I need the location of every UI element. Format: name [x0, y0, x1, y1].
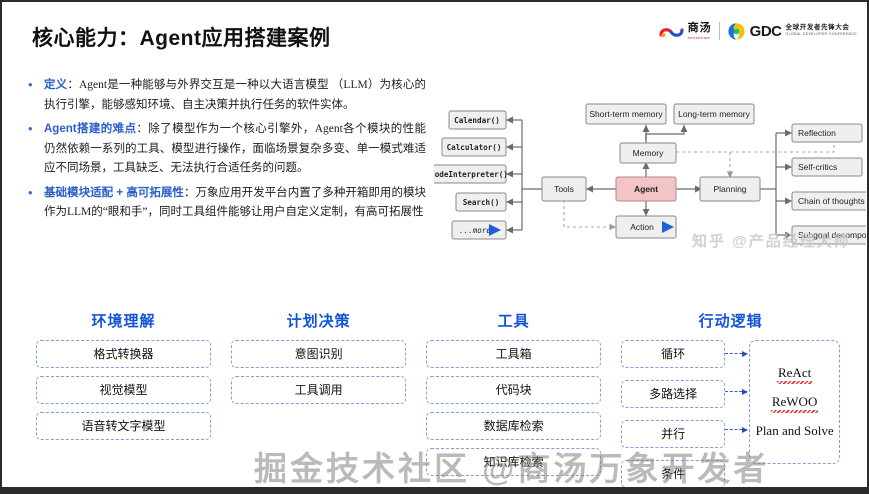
capability-columns: 环境理解 格式转换器 视觉模型 语音转文字模型 计划决策 意图识别 工具调用 工… [26, 310, 850, 488]
capability-chip[interactable]: 循环 [621, 340, 725, 368]
gdc-mark-icon [727, 22, 746, 41]
box-tool-calculator: Calculator() [447, 143, 502, 152]
box-reflection: Reflection [798, 128, 836, 138]
arrow-icon [725, 353, 747, 355]
box-planning: Planning [713, 184, 746, 194]
arrow-icon [725, 429, 747, 431]
box-action: Action [630, 222, 654, 232]
column-planning-decision: 计划决策 意图识别 工具调用 [221, 310, 416, 488]
capability-chip[interactable]: 工具箱 [426, 340, 601, 368]
bullet-list: • 定义：Agent是一种能够与外界交互是一种以大语言模型 （LLM）为核心的执… [26, 76, 426, 228]
box-tool-codeinterpreter: CodeInterpreter() [434, 170, 508, 179]
gdc-cn-label: 全球开发者先锋大会 [786, 25, 857, 32]
action-logic-arrows [725, 340, 749, 494]
capability-chip[interactable]: 多路选择 [621, 380, 725, 408]
sensetime-cn-label: 商汤 [688, 23, 712, 34]
column-heading: 环境理解 [36, 310, 211, 331]
sensetime-logo: 商汤 sensetime [659, 23, 712, 40]
box-agent: Agent [634, 184, 658, 194]
arrow-icon [725, 391, 747, 393]
capability-chip[interactable]: 代码块 [426, 376, 601, 404]
box-tools: Tools [554, 184, 574, 194]
column-heading: 行动逻辑 [621, 310, 840, 331]
gdc-logo: GDC 全球开发者先锋大会 GLOBAL DEVELOPER CONFERENC… [727, 22, 857, 41]
bullet-lead: 定义 [44, 79, 67, 91]
agent-pattern-box: ReAct ReWOO Plan and Solve [749, 340, 840, 464]
capability-chip[interactable]: 视觉模型 [36, 376, 211, 404]
column-environment-understanding: 环境理解 格式转换器 视觉模型 语音转文字模型 [26, 310, 221, 488]
column-tools: 工具 工具箱 代码块 数据库检索 知识库检索 [416, 310, 611, 488]
agent-diagram-svg: Short-term memory Long-term memory Memor… [434, 90, 866, 270]
gdc-en-label: GLOBAL DEVELOPER CONFERENCE [786, 33, 857, 37]
footer-divider [2, 487, 867, 492]
capability-chip[interactable]: 条件 [621, 460, 725, 488]
box-tool-calendar: Calendar() [454, 116, 500, 125]
bullet-dot-icon: • [26, 76, 44, 94]
column-action-logic: 行动逻辑 循环 多路选择 并行 条件 ReAct ReWOO Plan and … [611, 310, 850, 488]
bullet-dot-icon: • [26, 184, 44, 202]
capability-chip[interactable]: 并行 [621, 420, 725, 448]
capability-chip[interactable]: 数据库检索 [426, 412, 601, 440]
pattern-rewoo: ReWOO [772, 394, 818, 410]
box-long-term-memory: Long-term memory [678, 109, 751, 119]
bullet-lead: Agent搭建的难点 [44, 123, 136, 135]
capability-chip[interactable]: 语音转文字模型 [36, 412, 211, 440]
pattern-react: ReAct [778, 365, 811, 381]
box-tool-more: ...more [459, 226, 491, 235]
box-subgoal-decomposition: Subgoal decomposition [798, 230, 866, 240]
bullet-lead: 基础模块适配 + 高可拓展性 [44, 187, 184, 199]
page-title: 核心能力：Agent应用搭建案例 [32, 22, 331, 52]
capability-chip[interactable]: 知识库检索 [426, 448, 601, 476]
sensetime-en-label: sensetime [688, 36, 712, 40]
box-self-critics: Self-critics [798, 162, 837, 172]
slide-root: 核心能力：Agent应用搭建案例 商汤 sensetime GDC [0, 0, 869, 494]
capability-chip[interactable]: 格式转换器 [36, 340, 211, 368]
bullet-item: • Agent搭建的难点：除了模型作为一个核心引擎外，Agent各个模块的性能仍… [26, 120, 426, 179]
bullet-item: • 基础模块适配 + 高可拓展性：万象应用开发平台内置了多种开箱即用的模块作为L… [26, 184, 426, 223]
box-memory: Memory [633, 148, 664, 158]
action-logic-chips: 循环 多路选择 并行 条件 [621, 340, 725, 494]
column-heading: 计划决策 [231, 310, 406, 331]
bullet-body: ：Agent是一种能够与外界交互是一种以大语言模型 （LLM）为核心的执行引擎，… [44, 79, 426, 111]
bullet-dot-icon: • [26, 120, 44, 138]
box-tool-search: Search() [463, 198, 500, 207]
capability-chip[interactable]: 工具调用 [231, 376, 406, 404]
column-heading: 工具 [426, 310, 601, 331]
logo-divider [719, 22, 720, 40]
sensetime-mark-icon [659, 23, 685, 40]
box-chain-of-thoughts: Chain of thoughts [798, 196, 865, 206]
bullet-item: • 定义：Agent是一种能够与外界交互是一种以大语言模型 （LLM）为核心的执… [26, 76, 426, 115]
pattern-plan-and-solve: Plan and Solve [756, 423, 834, 439]
box-short-term-memory: Short-term memory [589, 109, 663, 119]
agent-architecture-diagram: Short-term memory Long-term memory Memor… [434, 90, 866, 270]
brand-logos: 商汤 sensetime GDC 全球开发者先锋大会 GLOBAL DEVELO… [659, 16, 857, 46]
gdc-wordmark: GDC [750, 24, 782, 39]
capability-chip[interactable]: 意图识别 [231, 340, 406, 368]
